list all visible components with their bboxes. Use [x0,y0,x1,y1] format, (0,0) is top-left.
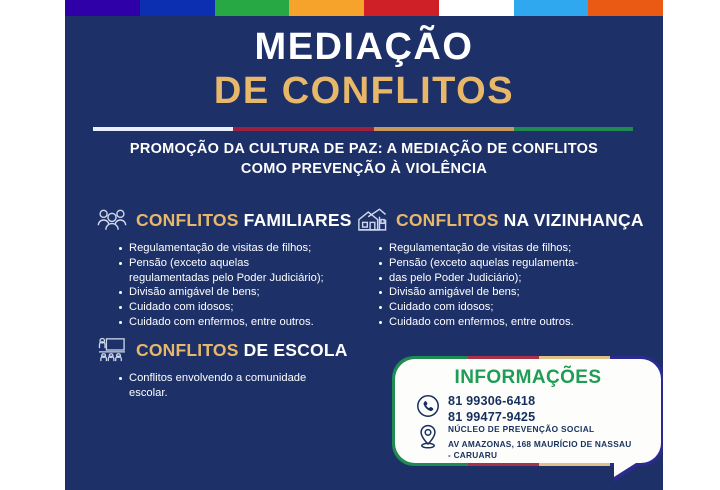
organization-name: NÚCLEO DE PREVENÇÃO SOCIAL [448,424,631,435]
divider-segment [514,127,633,131]
subtitle-line-2: COMO PREVENÇÃO À VIOLÊNCIA [83,160,645,180]
list-item: das pelo Poder Judiciário); [379,271,657,286]
info-card-title: INFORMAÇÕES [392,367,663,389]
address-line-2: - CARUARU [448,450,631,461]
top-bar-segment [65,0,140,16]
address-text: NÚCLEO DE PREVENÇÃO SOCIAL AV AMAZONAS, … [448,424,631,460]
section-conflitos-familiares: CONFLITOS FAMILIARES Regulamentação de v… [97,205,359,330]
list-item: Regulamentação de visitas de filhos; [379,241,657,256]
top-bar-segment [215,0,290,16]
subtitle-line-1: PROMOÇÃO DA CULTURA DE PAZ: A MEDIAÇÃO D… [83,140,645,160]
houses-icon [357,205,387,235]
map-pin-icon [416,424,440,448]
phone-number-1: 81 99306-6418 [448,394,535,410]
section-title-gold: CONFLITOS [396,210,499,230]
list-item: Pensão (exceto aquelas [119,256,359,271]
list-item: Regulamentação de visitas de filhos; [119,241,359,256]
poster-canvas: MEDIAÇÃO DE CONFLITOS PROMOÇÃO DA CULTUR… [65,0,663,490]
classroom-icon [97,335,127,365]
informacoes-card: INFORMAÇÕES 81 99306-6418 81 99477-9425 [392,356,663,466]
section-header: CONFLITOS NA VIZINHANÇA [357,205,657,235]
title-line-1: MEDIAÇÃO [65,28,663,68]
title-divider [93,127,633,131]
top-bar-segment [140,0,215,16]
top-color-bar [65,0,663,16]
section-conflitos-vizinhanca: CONFLITOS NA VIZINHANÇA Regulamentação d… [357,205,657,330]
page-title: MEDIAÇÃO DE CONFLITOS [65,28,663,112]
address-row: NÚCLEO DE PREVENÇÃO SOCIAL AV AMAZONAS, … [416,424,631,460]
section-title-white: NA VIZINHANÇA [504,210,644,230]
section-bullet-list: Regulamentação de visitas de filhos;Pens… [357,241,657,330]
section-title: CONFLITOS FAMILIARES [136,210,352,231]
list-item: Divisão amigável de bens; [119,285,359,300]
section-bullet-list: Regulamentação de visitas de filhos;Pens… [97,241,359,330]
phone-icon [416,394,440,418]
list-item: regulamentadas pelo Poder Judiciário); [119,271,359,286]
list-item: escolar. [119,386,377,401]
list-item: Cuidado com idosos; [379,300,657,315]
divider-segment [233,127,373,131]
section-title-white: DE ESCOLA [244,340,348,360]
top-bar-segment [514,0,589,16]
section-title-gold: CONFLITOS [136,340,239,360]
top-bar-segment [289,0,364,16]
section-title-gold: CONFLITOS [136,210,239,230]
section-bullet-list: Conflitos envolvendo a comunidadeescolar… [97,371,377,401]
list-item: Cuidado com idosos; [119,300,359,315]
phone-numbers: 81 99306-6418 81 99477-9425 [448,394,535,425]
list-item: Conflitos envolvendo a comunidade [119,371,377,386]
section-conflitos-escola: CONFLITOS DE ESCOLA Conflitos envolvendo… [97,335,377,401]
top-bar-segment [588,0,663,16]
divider-segment [93,127,233,131]
list-item: Pensão (exceto aquelas regulamenta- [379,256,657,271]
section-title-white: FAMILIARES [244,210,352,230]
list-item: Divisão amigável de bens; [379,285,657,300]
address-line-1: AV AMAZONAS, 168 MAURÍCIO DE NASSAU [448,439,631,450]
subtitle: PROMOÇÃO DA CULTURA DE PAZ: A MEDIAÇÃO D… [83,140,645,179]
section-header: CONFLITOS DE ESCOLA [97,335,377,365]
divider-segment [374,127,514,131]
top-bar-segment [364,0,439,16]
phone-row: 81 99306-6418 81 99477-9425 [416,394,535,425]
list-item: Cuidado com enfermos, entre outros. [379,315,657,330]
section-header: CONFLITOS FAMILIARES [97,205,359,235]
people-group-icon [97,205,127,235]
section-title: CONFLITOS DE ESCOLA [136,340,348,361]
section-title: CONFLITOS NA VIZINHANÇA [396,210,644,231]
top-bar-segment [439,0,514,16]
title-line-2: DE CONFLITOS [65,72,663,112]
list-item: Cuidado com enfermos, entre outros. [119,315,359,330]
